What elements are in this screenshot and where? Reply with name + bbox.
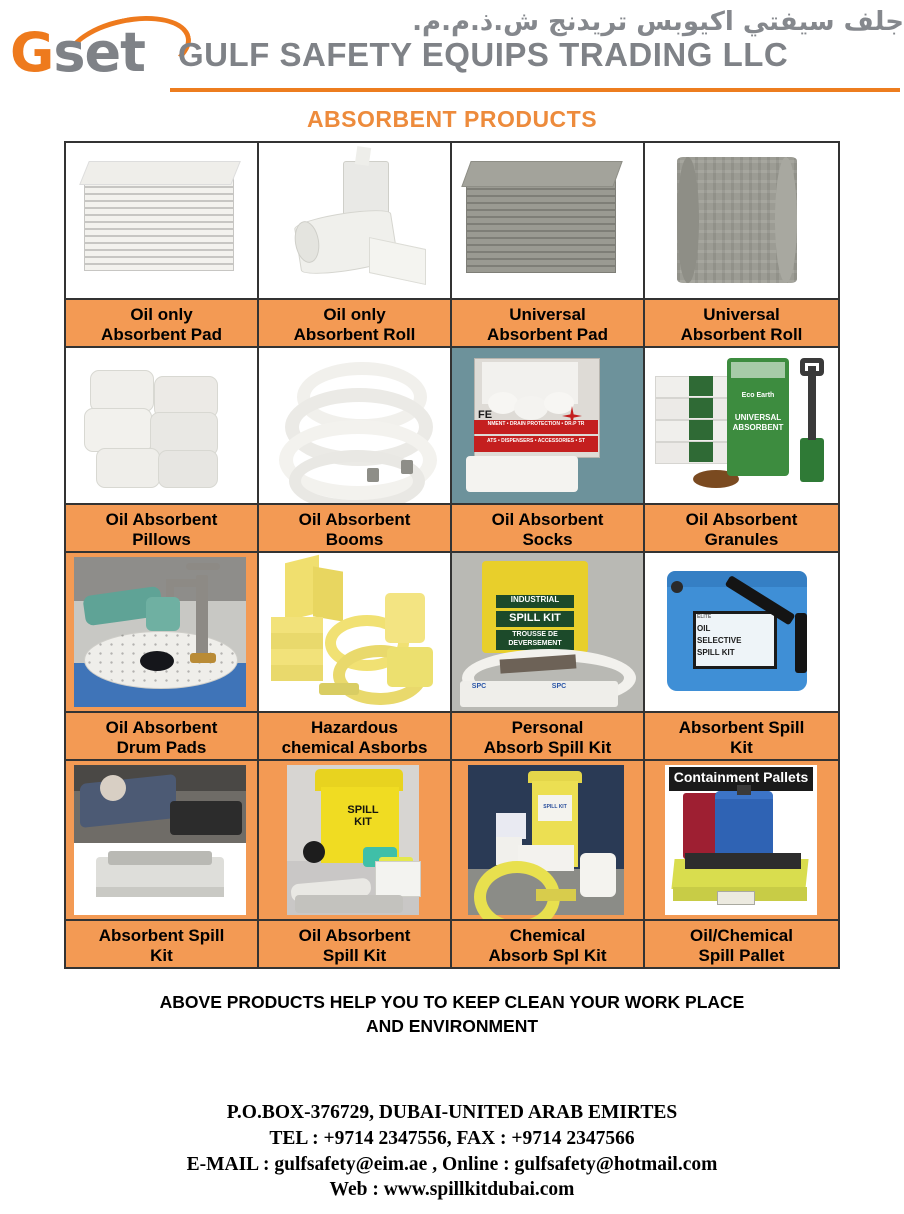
product-cell-oil-only-absorbent-pad[interactable]: Oil only Absorbent Pad [66, 143, 259, 348]
company-name-english: GULF SAFETY EQUIPS TRADING LLC [178, 37, 904, 73]
product-cell-oil-absorbent-pillows[interactable]: Oil Absorbent Pillows [66, 348, 259, 553]
product-cell-absorbent-spill-kit[interactable]: ELITE OIL SELECTIVE SPILL KIT Absorbent … [645, 553, 838, 761]
product-label-line2: Granules [647, 530, 836, 550]
product-label-line1: Oil Absorbent [454, 510, 641, 530]
contact-website: Web : www.spillkitdubai.com [0, 1177, 904, 1203]
product-cell-oil-absorbent-socks[interactable]: FE NMENT • DRAIN PROTECTION • DRIP TR AT… [452, 348, 645, 553]
product-label-line1: Oil only [68, 305, 255, 325]
product-label-line2: Absorbent Pad [454, 325, 641, 345]
product-label: Chemical Absorb Spl Kit [452, 919, 643, 967]
contact-address: P.O.BOX-376729, DUBAI-UNITED ARAB EMIRTE… [0, 1100, 904, 1126]
product-image-granule-bags: Eco Earth UNIVERSAL ABSORBENT [645, 348, 838, 503]
chem-bin-label-text: SPILL KIT [538, 805, 572, 810]
product-label-line2: Spill Pallet [647, 946, 836, 966]
granule-bag-brand-text: Eco Earth [729, 392, 787, 399]
product-label: Universal Absorbent Pad [452, 298, 643, 346]
page-title: ABSORBENT PRODUCTS [0, 106, 904, 133]
product-cell-universal-absorbent-pad[interactable]: Universal Absorbent Pad [452, 143, 645, 348]
product-label-line2: Drum Pads [68, 738, 255, 758]
tagline-line1: ABOVE PRODUCTS HELP YOU TO KEEP CLEAN YO… [0, 991, 904, 1015]
product-image-yellow-spill-kit-bag: INDUSTRIAL SPILL KIT TROUSSE DE DEVERSEM… [452, 553, 643, 711]
product-label-line2: Absorb Spill Kit [454, 738, 641, 758]
product-cell-oil-absorbent-granules[interactable]: Eco Earth UNIVERSAL ABSORBENT Oil Absorb… [645, 348, 838, 553]
spill-bag-fr1-text: TROUSSE DE [496, 631, 574, 638]
product-label-line1: Oil Absorbent [261, 510, 448, 530]
product-label-line2: Booms [261, 530, 448, 550]
product-label-line2: Absorbent Pad [68, 325, 255, 345]
spill-bag-mark-left-text: SPC [466, 683, 492, 690]
wheelie-bin-line2-text: KIT [335, 817, 391, 829]
product-label-line1: Oil only [261, 305, 448, 325]
product-cell-chemical-absorb-spl-kit[interactable]: SPILL KIT Chemical Absorb Spl Kit [452, 761, 645, 967]
logo-wordmark: Gset [10, 26, 145, 80]
spill-bag-mark-right-text: SPC [546, 683, 572, 690]
product-cell-oil-only-absorbent-roll[interactable]: Oil only Absorbent Roll [259, 143, 452, 348]
product-label: Oil only Absorbent Pad [66, 298, 257, 346]
product-label: Oil Absorbent Booms [259, 503, 450, 551]
socks-box-brand-text: FE [478, 410, 524, 422]
logo-letter-g: G [10, 21, 53, 84]
product-cell-hazardous-chemical-absorbs[interactable]: Hazardous chemical Asborbs [259, 553, 452, 761]
product-image-white-absorbent-roll [259, 143, 450, 298]
company-logo: Gset [8, 10, 178, 82]
product-image-white-pad-stack [66, 143, 257, 298]
product-cell-oil-absorbent-booms[interactable]: Oil Absorbent Booms [259, 348, 452, 553]
contact-block: P.O.BOX-376729, DUBAI-UNITED ARAB EMIRTE… [0, 1100, 904, 1203]
product-cell-absorbent-spill-kit-deployment[interactable]: Absorbent Spill Kit [66, 761, 259, 967]
product-label-line1: Personal [454, 718, 641, 738]
spill-bag-fr2-text: DEVERSEMENT [496, 640, 574, 647]
granule-bag-line1-text: UNIVERSAL [729, 414, 787, 422]
product-label-line1: Hazardous [261, 718, 448, 738]
product-label-line2: Absorbent Roll [261, 325, 448, 345]
product-label: Oil only Absorbent Roll [259, 298, 450, 346]
product-image-white-pillows [66, 348, 257, 503]
product-image-gray-absorbent-roll [645, 143, 838, 298]
contact-email: E-MAIL : gulfsafety@eim.ae , Online : gu… [0, 1152, 904, 1178]
product-label: Hazardous chemical Asborbs [259, 711, 450, 759]
spill-bag-top-text: INDUSTRIAL [496, 596, 574, 604]
product-label-line1: Universal [454, 305, 641, 325]
granule-bag-line2-text: ABSORBENT [729, 424, 787, 432]
blue-bag-line2-text: SELECTIVE [697, 637, 759, 645]
product-label: Absorbent Spill Kit [66, 919, 257, 967]
product-label-line1: Oil/Chemical [647, 926, 836, 946]
product-image-socks-box: FE NMENT • DRAIN PROTECTION • DRIP TR AT… [452, 348, 643, 503]
product-label-line1: Oil Absorbent [261, 926, 448, 946]
product-label-line1: Chemical [454, 926, 641, 946]
product-label: Oil Absorbent Socks [452, 503, 643, 551]
product-image-containment-pallet: Containment Pallets [645, 761, 838, 919]
product-label-line1: Absorbent Spill [647, 718, 836, 738]
product-label: Oil Absorbent Drum Pads [66, 711, 257, 759]
page-header: Gset جلف سيفتي اكيوبس تريدنج ش.ذ.م.م. GU… [0, 0, 904, 96]
product-cell-oil-absorbent-spill-kit[interactable]: SPILL KIT Oil Absorbent Spill Kit [259, 761, 452, 967]
product-image-yellow-wheelie-bin-kit: SPILL KIT [259, 761, 450, 919]
product-label: Oil Absorbent Granules [645, 503, 838, 551]
spill-bag-mid-text: SPILL KIT [496, 613, 574, 625]
product-image-spill-kit-deployment [66, 761, 257, 919]
product-label-line2: Kit [68, 946, 255, 966]
product-image-gray-pad-stack [452, 143, 643, 298]
product-cell-oil-absorbent-drum-pads[interactable]: Oil Absorbent Drum Pads [66, 553, 259, 761]
product-label: Oil Absorbent Spill Kit [259, 919, 450, 967]
product-label-line2: Absorbent Roll [647, 325, 836, 345]
product-label: Absorbent Spill Kit [645, 711, 838, 759]
product-image-blue-spill-kit-bag: ELITE OIL SELECTIVE SPILL KIT [645, 553, 838, 711]
socks-box-line1-text: NMENT • DRAIN PROTECTION • DRIP TR [476, 422, 596, 427]
company-identity: جلف سيفتي اكيوبس تريدنج ش.ذ.م.م. GULF SA… [178, 6, 904, 73]
product-cell-personal-absorb-spill-kit[interactable]: INDUSTRIAL SPILL KIT TROUSSE DE DEVERSEM… [452, 553, 645, 761]
product-label-line2: chemical Asborbs [261, 738, 448, 758]
logo-letters-set: set [53, 21, 145, 84]
product-label-line2: Absorb Spl Kit [454, 946, 641, 966]
product-row: Oil Absorbent Drum Pads [66, 553, 838, 761]
socks-box-line2-text: ATS • DISPENSERS • ACCESSORIES • ST [476, 439, 596, 444]
contact-phone-fax: TEL : +9714 2347556, FAX : +9714 2347566 [0, 1126, 904, 1152]
product-row: Oil Absorbent Pillows Oil Absorbent Boom… [66, 348, 838, 553]
blue-bag-brand-text: ELITE [697, 615, 737, 620]
product-label: Personal Absorb Spill Kit [452, 711, 643, 759]
product-label-line1: Oil Absorbent [68, 510, 255, 530]
product-label: Oil Absorbent Pillows [66, 503, 257, 551]
product-label-line2: Socks [454, 530, 641, 550]
blue-bag-line3-text: SPILL KIT [697, 649, 759, 657]
product-label: Universal Absorbent Roll [645, 298, 838, 346]
product-row: Absorbent Spill Kit SPILL KIT [66, 761, 838, 967]
header-divider [170, 88, 900, 92]
product-label-line1: Absorbent Spill [68, 926, 255, 946]
product-label-line2: Spill Kit [261, 946, 448, 966]
blue-bag-line1-text: OIL [697, 625, 753, 633]
product-cell-oil-chemical-spill-pallet[interactable]: Containment Pallets Oil/Chemical Spill P… [645, 761, 838, 967]
product-image-yellow-chemical-absorbents [259, 553, 450, 711]
product-label-line1: Oil Absorbent [68, 718, 255, 738]
product-row: Oil only Absorbent Pad Oil only Absorben… [66, 143, 838, 348]
wheelie-bin-line1-text: SPILL [335, 805, 391, 817]
product-cell-universal-absorbent-roll[interactable]: Universal Absorbent Roll [645, 143, 838, 348]
tagline: ABOVE PRODUCTS HELP YOU TO KEEP CLEAN YO… [0, 991, 904, 1038]
product-grid: Oil only Absorbent Pad Oil only Absorben… [64, 141, 840, 969]
product-label-line2: Kit [647, 738, 836, 758]
company-name-arabic: جلف سيفتي اكيوبس تريدنج ش.ذ.م.م. [178, 6, 904, 39]
product-image-drum-pad-in-use [66, 553, 257, 711]
product-label-line1: Oil Absorbent [647, 510, 836, 530]
product-label-line1: Universal [647, 305, 836, 325]
pallet-banner-text: Containment Pallets [669, 770, 813, 785]
product-image-chemical-spill-kit-set: SPILL KIT [452, 761, 643, 919]
tagline-line2: AND ENVIRONMENT [0, 1015, 904, 1039]
product-label-line2: Pillows [68, 530, 255, 550]
product-label: Oil/Chemical Spill Pallet [645, 919, 838, 967]
product-image-white-booms [259, 348, 450, 503]
